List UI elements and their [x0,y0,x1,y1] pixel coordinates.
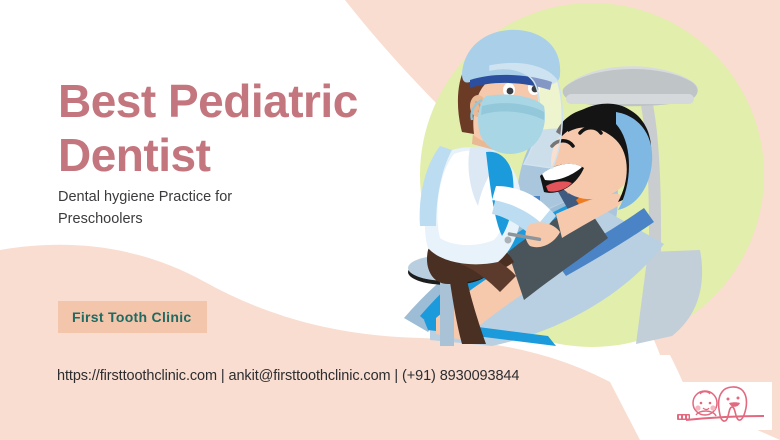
lamp-rim [566,94,694,104]
baby-cheek-right [710,405,715,410]
tooth-eye-left [727,398,730,401]
contact-line[interactable]: https://firsttoothclinic.com | ankit@fir… [57,368,519,384]
subtitle-line-1: Dental hygiene Practice for [58,186,308,208]
baby-cheek-left [695,405,700,410]
subtitle-line-2: Preschoolers [58,208,308,230]
clinic-name-label: First Tooth Clinic [72,309,191,325]
subtitle: Dental hygiene Practice for Preschoolers [58,186,308,231]
headline-line-2: Dentist [58,128,388,182]
tooth-eye-right [737,397,740,400]
clinic-name-badge[interactable]: First Tooth Clinic [58,301,207,333]
first-tooth-clinic-logo[interactable] [672,382,772,430]
pediatric-dentist-banner: Best Pediatric Dentist Dental hygiene Pr… [0,0,780,440]
page-title: Best Pediatric Dentist [58,74,388,183]
headline-line-1: Best Pediatric [58,74,388,128]
